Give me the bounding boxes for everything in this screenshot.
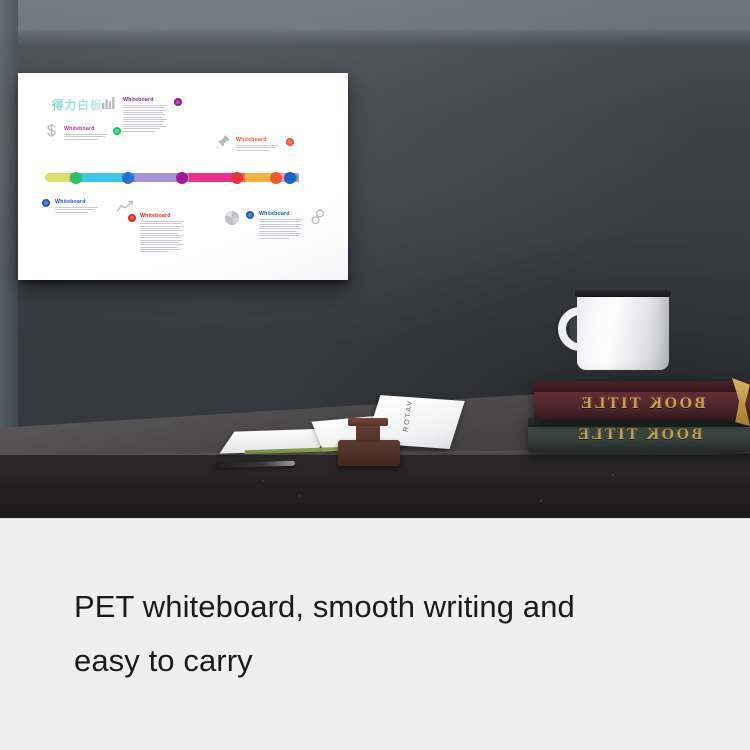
timeline-dot — [70, 172, 82, 184]
infographic-node-6: Whiteboard — [259, 211, 303, 240]
infographic-timeline — [45, 173, 298, 182]
wooden-stamp-neck — [356, 424, 380, 442]
node-body-text — [259, 219, 303, 239]
mug-rim — [575, 290, 671, 297]
pie-chart-icon — [224, 210, 240, 226]
timeline-dot — [231, 172, 243, 184]
node-label: Whiteboard — [140, 213, 184, 219]
timeline-dot — [176, 172, 188, 184]
line-chart-icon — [116, 200, 134, 214]
node-body-text — [140, 221, 184, 252]
book-top-pages — [534, 381, 750, 392]
node-dot-orange — [286, 138, 294, 146]
caption-panel: PET whiteboard, smooth writing and easy … — [0, 518, 750, 750]
infographic-node-4: Whiteboard — [55, 199, 99, 214]
node-label: Whiteboard — [64, 126, 108, 132]
caption-text: PET whiteboard, smooth writing and easy … — [74, 580, 694, 688]
whiteboard-infographic: 得力白板 Whiteboard — [18, 73, 348, 280]
desk-speck — [298, 495, 300, 497]
pushpin-icon — [215, 134, 231, 150]
timeline-dot — [122, 172, 134, 184]
desk-speck — [612, 474, 614, 476]
product-photo: 得力白板 Whiteboard — [0, 0, 750, 518]
pet-whiteboard[interactable]: 得力白板 Whiteboard — [18, 73, 348, 280]
node-label: Whiteboard — [55, 199, 99, 205]
node-label: Whiteboard — [236, 137, 280, 143]
timeline-dot — [284, 172, 296, 184]
infographic-title-cn: 得力白板 — [52, 97, 103, 113]
mug-body — [577, 293, 669, 370]
node-label: Whiteboard — [259, 211, 303, 217]
infographic-node-5: Whiteboard — [140, 213, 184, 254]
gear-icon — [310, 209, 326, 225]
wooden-stamp-base — [338, 440, 400, 466]
desk-speck — [540, 500, 542, 502]
timeline-dot — [270, 172, 282, 184]
dollar-sign-icon — [45, 124, 58, 140]
wooden-stamp-knob — [348, 418, 388, 426]
node-dot-green — [113, 127, 121, 135]
node-dot-blue — [42, 199, 50, 207]
node-body-text — [64, 134, 108, 140]
node-dot-purple — [174, 98, 182, 106]
timeline-segment — [81, 173, 123, 182]
node-body-text — [55, 207, 99, 213]
caption-line-2: easy to carry — [74, 634, 694, 688]
node-body-text — [236, 145, 280, 151]
infographic-node-3: Whiteboard — [236, 137, 280, 152]
book-top-title: BOOK TITLE — [534, 395, 750, 413]
infographic-node-1: Whiteboard — [123, 97, 167, 133]
infographic-node-2: Whiteboard — [64, 126, 108, 141]
desk-speck — [262, 480, 264, 482]
timeline-segment — [45, 173, 69, 182]
node-label: Whiteboard — [123, 97, 167, 103]
timeline-segment — [135, 173, 177, 182]
book-bottom-title: BOOK TITLE — [528, 426, 750, 444]
bar-chart-icon — [101, 95, 116, 110]
timeline-segment — [189, 173, 235, 182]
caption-line-1: PET whiteboard, smooth writing and — [74, 580, 694, 634]
node-dot-blue-2 — [246, 211, 254, 219]
node-dot-red — [128, 214, 136, 222]
node-body-text — [123, 105, 167, 132]
book-bottom: BOOK TITLE — [528, 418, 750, 452]
enamel-mug — [561, 287, 669, 370]
book-top: BOOK TITLE — [534, 381, 750, 420]
